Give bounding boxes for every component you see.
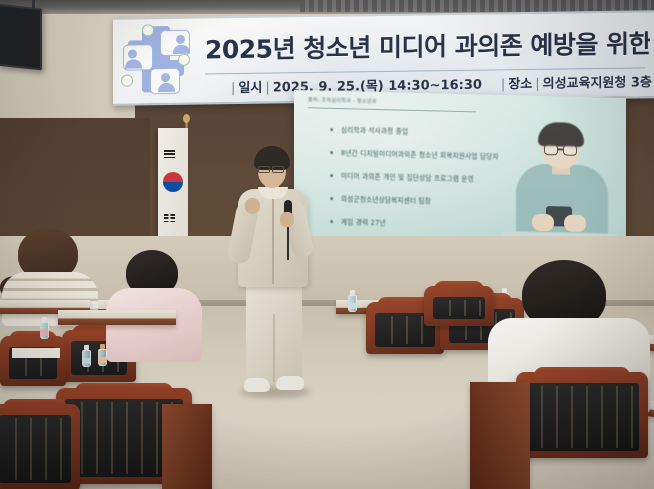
attendee-person-pink-shirt xyxy=(108,250,200,358)
water-bottle xyxy=(348,292,357,312)
presenter-standing xyxy=(232,146,314,404)
banner-date-label: 일시 xyxy=(238,81,262,96)
presenter-hand xyxy=(280,212,294,227)
wall-mounted-monitor xyxy=(0,4,42,71)
glasses-icon xyxy=(258,166,270,173)
banner-title: 2025년 청소년 미디어 과의존 예방을 위한교원 xyxy=(205,24,650,70)
trigram-gon xyxy=(164,214,175,224)
presenter-hand xyxy=(245,198,260,214)
glasses-icon xyxy=(544,144,558,155)
conference-chair xyxy=(516,372,648,458)
conference-desk xyxy=(162,404,212,489)
banner-title-main: 2025년 청소년 미디어 과의존 예방을 위한 xyxy=(205,29,650,64)
presenter-shoe xyxy=(244,378,270,392)
conference-chair xyxy=(0,336,66,386)
conference-chair xyxy=(424,286,494,326)
banner-place-label: 장소 xyxy=(508,77,532,92)
banner-place-value: 의성교육지원청 3층 대회의실 xyxy=(543,75,654,92)
water-bottle xyxy=(40,317,49,339)
conference-desk xyxy=(58,310,176,325)
water-bottle xyxy=(82,345,91,367)
flag-finial xyxy=(183,114,190,123)
conference-chair xyxy=(0,404,80,489)
taeguk-symbol xyxy=(163,172,183,192)
seminar-photo: 2025년 청소년 미디어 과의존 예방을 위한교원 |일시|2025. 9. … xyxy=(0,0,654,489)
conference-desk xyxy=(470,382,530,489)
water-bottle xyxy=(98,344,107,366)
presenter-shoe xyxy=(276,376,304,390)
handout-paper xyxy=(12,348,60,358)
south-korea-flag-icon xyxy=(158,128,188,253)
trigram-geon xyxy=(164,150,175,160)
